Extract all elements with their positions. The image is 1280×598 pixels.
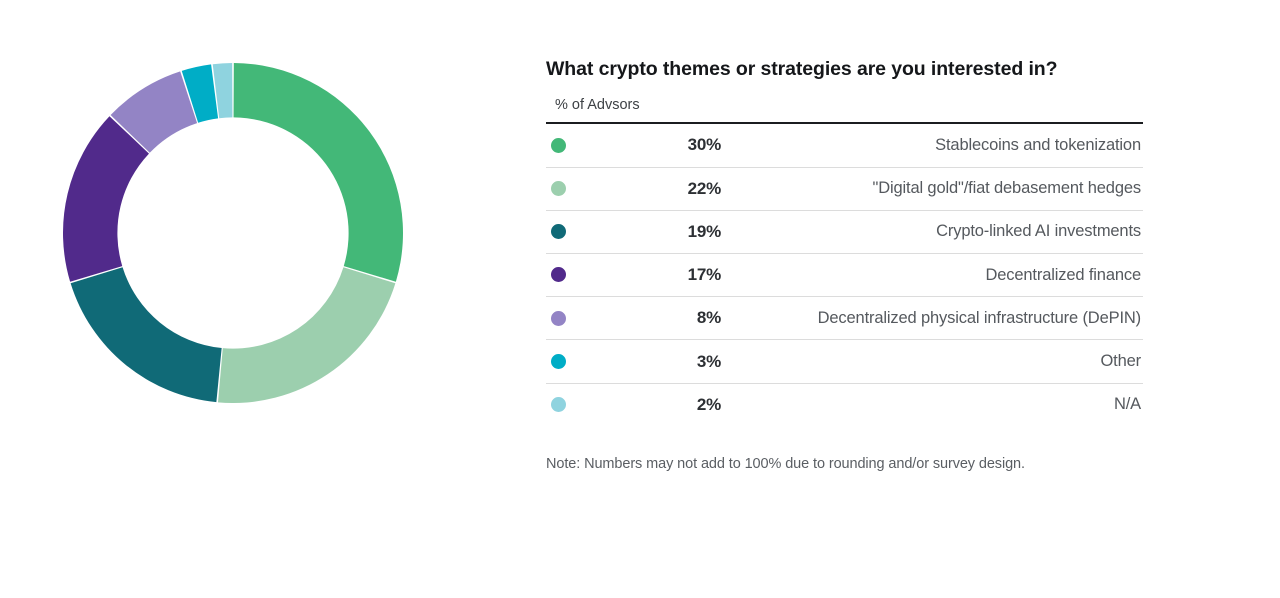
legend-table: 30%Stablecoins and tokenization22%"Digit… — [546, 124, 1143, 426]
legend-label-cell: Decentralized finance — [721, 254, 1143, 297]
chart-pane: Stablecoins and tokenization"Digital gol… — [0, 0, 540, 598]
legend-color-dot-icon — [551, 267, 566, 282]
legend-row: 22%"Digital gold"/fiat debasement hedges — [546, 167, 1143, 210]
donut-chart: Stablecoins and tokenization"Digital gol… — [63, 63, 403, 403]
legend-percent-value: 19% — [688, 222, 721, 241]
legend-container: What crypto themes or strategies are you… — [546, 56, 1146, 474]
donut-segment-3: Decentralized finance — [63, 116, 149, 282]
legend-color-dot-icon — [551, 354, 566, 369]
legend-swatch-cell — [546, 167, 599, 210]
legend-row: 30%Stablecoins and tokenization — [546, 124, 1143, 167]
chart-title: What crypto themes or strategies are you… — [546, 56, 1146, 82]
legend-percent-cell: 8% — [599, 297, 721, 340]
legend-pane: What crypto themes or strategies are you… — [540, 0, 1280, 598]
legend-row: 19%Crypto-linked AI investments — [546, 210, 1143, 253]
legend-category-label: Decentralized finance — [985, 266, 1141, 284]
legend-color-dot-icon — [551, 181, 566, 196]
column-header-label: % of Advsors — [546, 96, 1146, 114]
legend-row: 3%Other — [546, 340, 1143, 383]
legend-percent-value: 22% — [688, 179, 721, 198]
legend-category-label: "Digital gold"/fiat debasement hedges — [872, 179, 1141, 197]
legend-category-label: Stablecoins and tokenization — [935, 136, 1141, 154]
legend-percent-cell: 2% — [599, 383, 721, 426]
legend-percent-cell: 3% — [599, 340, 721, 383]
legend-row: 17%Decentralized finance — [546, 254, 1143, 297]
legend-swatch-cell — [546, 254, 599, 297]
legend-label-cell: Stablecoins and tokenization — [721, 124, 1143, 167]
legend-color-dot-icon — [551, 397, 566, 412]
legend-label-cell: N/A — [721, 383, 1143, 426]
legend-swatch-cell — [546, 340, 599, 383]
legend-percent-value: 30% — [688, 135, 721, 154]
legend-percent-cell: 30% — [599, 124, 721, 167]
legend-swatch-cell — [546, 383, 599, 426]
legend-swatch-cell — [546, 297, 599, 340]
legend-category-label: Decentralized physical infrastructure (D… — [818, 309, 1141, 327]
legend-category-label: N/A — [1114, 395, 1141, 413]
legend-swatch-cell — [546, 210, 599, 253]
donut-segment-0: Stablecoins and tokenization — [234, 63, 403, 282]
legend-row: 2%N/A — [546, 383, 1143, 426]
legend-color-dot-icon — [551, 138, 566, 153]
legend-percent-value: 2% — [697, 395, 721, 414]
legend-percent-value: 17% — [688, 265, 721, 284]
legend-percent-value: 3% — [697, 352, 721, 371]
legend-label-cell: Crypto-linked AI investments — [721, 210, 1143, 253]
donut-segment-2: Crypto-linked AI investments — [71, 267, 222, 402]
legend-label-cell: "Digital gold"/fiat debasement hedges — [721, 167, 1143, 210]
legend-swatch-cell — [546, 124, 599, 167]
legend-label-cell: Decentralized physical infrastructure (D… — [721, 297, 1143, 340]
legend-percent-value: 8% — [697, 308, 721, 327]
legend-category-label: Other — [1100, 352, 1141, 370]
legend-percent-cell: 19% — [599, 210, 721, 253]
legend-color-dot-icon — [551, 224, 566, 239]
legend-category-label: Crypto-linked AI investments — [936, 222, 1141, 240]
legend-table-body: 30%Stablecoins and tokenization22%"Digit… — [546, 124, 1143, 426]
donut-svg: Stablecoins and tokenization"Digital gol… — [63, 63, 403, 403]
footnote: Note: Numbers may not add to 100% due to… — [546, 454, 1146, 474]
legend-color-dot-icon — [551, 311, 566, 326]
donut-chart-figure: Stablecoins and tokenization"Digital gol… — [0, 0, 1280, 598]
legend-label-cell: Other — [721, 340, 1143, 383]
legend-row: 8%Decentralized physical infrastructure … — [546, 297, 1143, 340]
legend-percent-cell: 17% — [599, 254, 721, 297]
donut-segment-group: Stablecoins and tokenization"Digital gol… — [63, 63, 403, 403]
legend-percent-cell: 22% — [599, 167, 721, 210]
donut-segment-1: "Digital gold"/fiat debasement hedges — [218, 267, 395, 403]
